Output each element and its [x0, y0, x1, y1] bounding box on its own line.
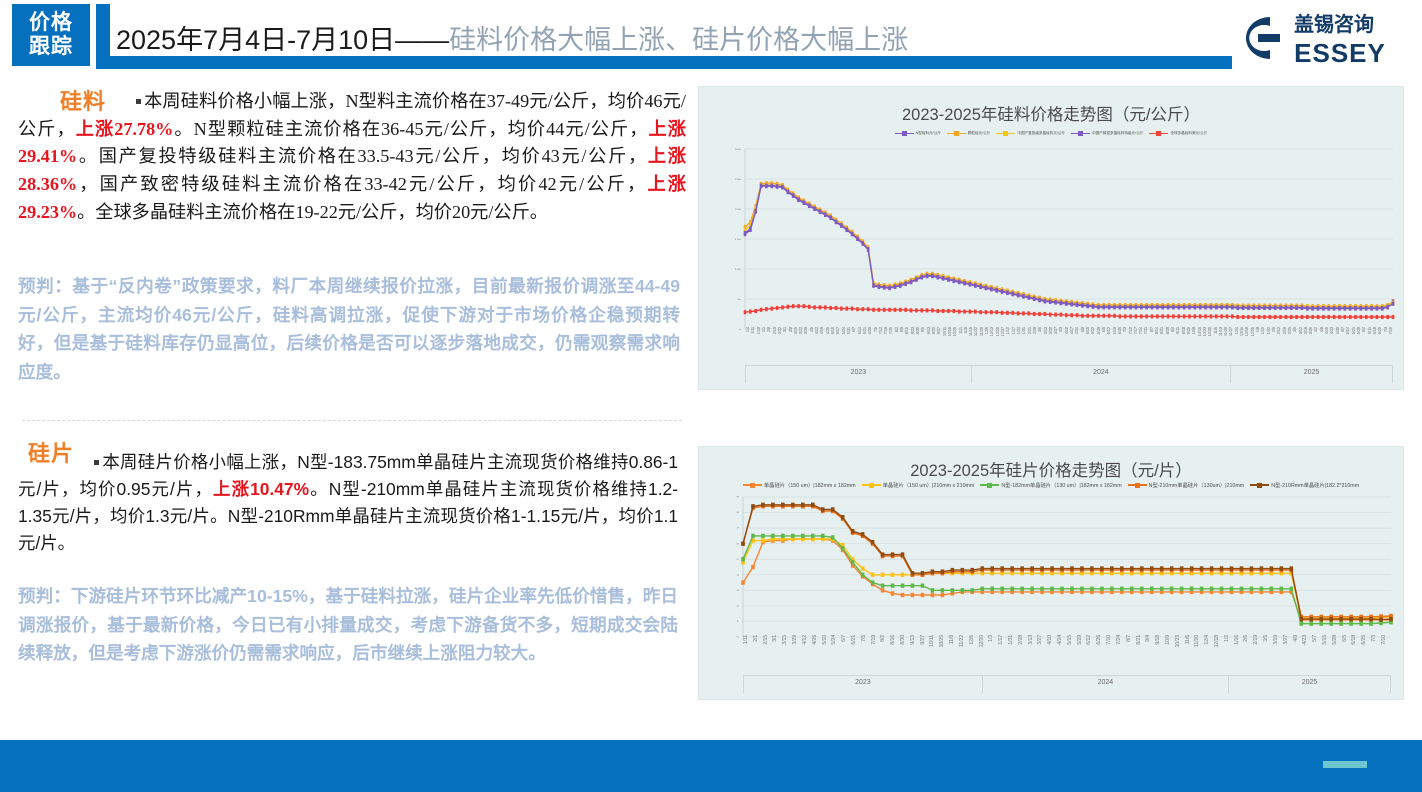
series-marker — [871, 540, 875, 544]
series-marker — [1065, 313, 1068, 317]
price-change-highlight: 上涨27.78% — [76, 119, 174, 139]
series-marker — [1381, 306, 1384, 310]
series-marker — [1172, 314, 1175, 318]
x-axis-tick-label: 2/6 — [1243, 635, 1253, 642]
chart2-year-row: 202320242025 — [743, 675, 1391, 693]
series-marker — [1180, 587, 1184, 591]
series-marker — [1130, 587, 1134, 591]
chart-svg: 0123456789 — [743, 497, 1391, 637]
series-marker — [1240, 587, 1244, 591]
series-marker — [1103, 305, 1106, 309]
x-axis-tick-label: 12/13 — [989, 327, 994, 336]
x-axis-tick-label: 4/24 — [1057, 635, 1067, 645]
legend-item: 单晶硅片（150 um）|182mm x 182mm — [743, 481, 856, 489]
series-marker — [990, 587, 994, 591]
series-marker — [1000, 587, 1004, 591]
x-axis-tick-label: 3/1 — [782, 327, 787, 332]
x-axis-tick-label: 6/28 — [867, 327, 872, 334]
x-axis-tick-label: 11/6 — [1185, 635, 1195, 644]
series-marker — [1236, 305, 1239, 309]
series-marker — [1274, 305, 1277, 309]
series-marker — [1250, 566, 1254, 570]
series-marker — [856, 236, 859, 240]
series-marker — [1161, 314, 1164, 318]
y-axis-tick-label: 0 — [739, 328, 742, 331]
series-marker — [1022, 311, 1025, 315]
series-marker — [1080, 587, 1084, 591]
series-marker — [862, 241, 865, 245]
series-marker — [1006, 290, 1009, 294]
x-axis-tick-label: 11/22 — [973, 327, 978, 336]
series-marker — [904, 308, 907, 312]
series-marker — [1322, 315, 1325, 319]
series-marker — [1240, 566, 1244, 570]
series-marker — [1180, 566, 1184, 570]
series-marker — [871, 573, 875, 577]
section-divider — [22, 420, 682, 421]
series-marker — [1145, 305, 1148, 309]
series-marker — [1200, 566, 1204, 570]
series-marker — [792, 304, 795, 308]
x-axis-tick-label: 10/9 — [1165, 635, 1175, 645]
series-marker — [776, 184, 779, 188]
series-marker — [1376, 306, 1379, 310]
x-axis-tick-label: 6/5 — [1342, 635, 1352, 642]
x-axis-tick-label: 12/6 — [969, 635, 979, 645]
series-marker — [819, 209, 822, 213]
x-axis-tick-label: 12/20 — [979, 635, 989, 648]
x-axis-tick-label: 6/25 — [1377, 327, 1382, 334]
series-marker — [1290, 305, 1293, 309]
series-marker — [1103, 314, 1106, 318]
series-marker — [1110, 566, 1114, 570]
x-axis-tick-label: 6/7 — [841, 635, 851, 642]
series-marker — [760, 184, 763, 188]
series-marker — [1065, 301, 1068, 305]
series-marker — [808, 203, 811, 207]
series-marker — [961, 588, 965, 592]
series-marker — [797, 197, 800, 201]
series-marker — [1311, 306, 1314, 310]
series-marker — [1301, 305, 1304, 309]
series-marker — [1092, 304, 1095, 308]
series-marker — [1183, 314, 1186, 318]
chart2-legend: 单晶硅片（150 um）|182mm x 182mm单晶硅片（150 um）|2… — [699, 481, 1403, 489]
chart1-plot-area: 050100150200250300 — [745, 149, 1393, 329]
series-marker — [1359, 617, 1363, 621]
series-marker — [1279, 305, 1282, 309]
legend-marker-icon — [996, 131, 1015, 136]
series-marker — [1076, 313, 1079, 317]
x-axis-tick-label: 9/11 — [1175, 327, 1180, 334]
series-marker — [1280, 566, 1284, 570]
legend-label: N型-210Rmm单晶硅片|182.2*210mm — [1271, 481, 1359, 489]
series-marker — [1150, 587, 1154, 591]
legend-item: 中国产致密多晶硅料特级元/公斤 — [1071, 131, 1143, 136]
year-group-label: 2025 — [1229, 675, 1391, 693]
series-marker — [1156, 305, 1159, 309]
series-marker — [971, 588, 975, 592]
legend-marker-icon — [1250, 483, 1269, 488]
chart2-title: 2023-2025年硅片价格走势图（元/片） — [699, 457, 1403, 481]
series-marker — [1140, 566, 1144, 570]
chart1-legend: N型硅料元/公斤颗粒硅元/公斤中国产复投级多晶硅料元/公斤中国产致密多晶硅料特级… — [699, 131, 1403, 136]
x-axis-tick-label: 3/27 — [1037, 635, 1047, 645]
series-marker — [1379, 617, 1383, 621]
series-marker — [941, 588, 945, 592]
x-axis-tick-label: 9/6 — [920, 327, 925, 332]
x-axis-tick-label: 5/15 — [1067, 635, 1077, 645]
series-marker — [741, 580, 745, 584]
series-marker — [744, 231, 747, 235]
series-marker — [1040, 587, 1044, 591]
x-axis-tick-label: 3/27 — [1283, 635, 1293, 645]
page-title-main: 2025年7月4日-7月10日—— — [116, 25, 449, 55]
series-marker — [771, 503, 775, 507]
series-marker — [749, 227, 752, 231]
series-marker — [1017, 293, 1020, 297]
series-marker — [1060, 301, 1063, 305]
series-marker — [1338, 315, 1341, 319]
series-marker — [1339, 617, 1343, 621]
x-axis-tick-label: 10/11 — [929, 635, 939, 647]
series-marker — [761, 538, 765, 542]
series-marker — [1070, 587, 1074, 591]
legend-label: 单晶硅片（150 um）|182mm x 182mm — [764, 481, 856, 489]
series-marker — [1230, 566, 1234, 570]
series-marker — [1204, 305, 1207, 309]
series-marker — [1204, 314, 1207, 318]
wafer-price-chart[interactable]: 2023-2025年硅片价格走势图（元/片） 单晶硅片（150 um）|182m… — [698, 446, 1404, 700]
series-marker — [941, 593, 945, 597]
series-marker — [787, 305, 790, 309]
x-axis-tick-label: 1/10 — [1005, 327, 1010, 334]
series-marker — [947, 309, 950, 313]
x-axis-tick-label: 9/18 — [1155, 635, 1165, 645]
series-marker — [765, 184, 768, 188]
series-marker — [1369, 617, 1373, 621]
series-marker — [1010, 587, 1014, 591]
left-content-column: 硅料 本周硅料价格小幅上涨，N型料主流价格在37-49元/公斤，均价46元/公斤… — [18, 84, 690, 704]
series-marker — [1317, 306, 1320, 310]
series-marker — [787, 190, 790, 194]
series-marker — [1333, 315, 1336, 319]
series-marker — [1183, 305, 1186, 309]
series-marker — [1269, 315, 1272, 319]
series-marker — [831, 535, 835, 539]
series-marker — [1215, 305, 1218, 309]
series-marker — [947, 277, 950, 281]
series-marker — [969, 310, 972, 314]
series-marker — [1250, 587, 1254, 591]
x-axis-tick-label: 4/23 — [1302, 635, 1312, 645]
x-axis-tick-label: 2/15 — [763, 635, 773, 645]
x-axis-tick-label: 1/15 — [1260, 327, 1265, 334]
legend-item: 单晶硅片（150 um）|210mm x 210mm — [862, 481, 975, 489]
x-axis-tick-label: 8/16 — [890, 635, 900, 645]
legend-item: 颗粒硅元/公斤 — [947, 131, 991, 136]
polysilicon-price-chart[interactable]: 2023-2025年硅料价格走势图（元/公斤） N型硅料元/公斤颗粒硅元/公斤中… — [698, 86, 1404, 390]
x-axis-tick-label: 8/21 — [1136, 635, 1146, 645]
series-marker — [915, 308, 918, 312]
series-marker — [1210, 305, 1213, 309]
series-marker — [1354, 315, 1357, 319]
legend-item: N型-210Rmm单晶硅片|182.2*210mm — [1250, 481, 1359, 489]
series-marker — [792, 193, 795, 197]
series-marker — [891, 552, 895, 556]
y-axis-tick-label: 8 — [736, 512, 739, 514]
body-text-run: 。全球多晶硅料主流价格在19-22元/公斤，均价20元/公斤。 — [77, 202, 548, 222]
series-marker — [1151, 305, 1154, 309]
x-axis-tick-label: 4/19 — [819, 327, 824, 334]
series-marker — [1194, 305, 1197, 309]
x-axis-tick-label: 4/3 — [1058, 327, 1063, 332]
series-marker — [1001, 289, 1004, 293]
series-marker — [781, 305, 784, 309]
legend-label: N型-182mm单晶硅片（130 um）|182mm x 182mm — [1001, 481, 1121, 489]
x-axis-tick-label: 5/28 — [1332, 635, 1342, 645]
series-marker — [1299, 617, 1303, 621]
series-marker — [920, 275, 923, 279]
legend-item: 中国产复投级多晶硅料元/公斤 — [996, 131, 1065, 136]
y-axis-tick-label: 300 — [735, 148, 742, 151]
series-marker — [878, 308, 881, 312]
series-marker — [931, 308, 934, 312]
series-marker — [1285, 315, 1288, 319]
series-marker — [744, 310, 747, 314]
x-axis-tick-label: 6/12 — [1086, 635, 1096, 645]
series-marker — [920, 308, 923, 312]
series-marker — [749, 310, 752, 314]
series-marker — [1242, 305, 1245, 309]
series-marker — [1129, 314, 1132, 318]
series-marker — [1050, 566, 1054, 570]
series-marker — [1210, 314, 1213, 318]
x-axis-tick-label: 12/4 — [1204, 635, 1214, 645]
series-marker — [1226, 305, 1229, 309]
series-marker — [1177, 314, 1180, 318]
legend-item: N型-210mm单晶硅片（130um）|210mm — [1128, 481, 1245, 489]
series-marker — [1100, 566, 1104, 570]
y-axis-tick-label: 7 — [736, 527, 739, 529]
series-marker — [1108, 314, 1111, 318]
y-axis-tick-label: 4 — [736, 574, 739, 576]
series-marker — [1150, 566, 1154, 570]
series-marker — [931, 274, 934, 278]
series-marker — [1317, 315, 1320, 319]
series-marker — [926, 274, 929, 278]
series-marker — [840, 223, 843, 227]
series-marker — [1252, 305, 1255, 309]
series-marker — [851, 560, 855, 564]
x-axis-tick-label: 1/31 — [1021, 327, 1026, 334]
wafer-body-text: 本周硅片价格小幅上涨，N型-183.75mm单晶硅片主流现货价格维持0.86-1… — [18, 449, 678, 558]
x-axis-tick-label: 6/18 — [1351, 635, 1361, 645]
series-marker — [1190, 566, 1194, 570]
bullet-icon — [94, 460, 99, 465]
series-marker — [1333, 306, 1336, 310]
series-marker — [936, 309, 939, 313]
series-marker — [1247, 305, 1250, 309]
series-marker — [765, 307, 768, 311]
series-marker — [1033, 312, 1036, 316]
series-marker — [829, 306, 832, 310]
series-marker — [770, 307, 773, 311]
x-axis-tick-label: 12/18 — [1244, 327, 1249, 336]
series-marker — [1090, 566, 1094, 570]
series-marker — [770, 184, 773, 188]
series-marker — [1113, 305, 1116, 309]
series-marker — [1301, 315, 1304, 319]
x-axis-tick-label: 7/5 — [861, 635, 871, 642]
header-underline-bar — [96, 56, 1232, 69]
series-marker — [979, 310, 982, 314]
series-marker — [1359, 621, 1363, 625]
x-axis-tick-label: 4/9 — [1293, 635, 1303, 642]
x-axis-tick-label: 5/29 — [1077, 635, 1087, 645]
series-marker — [1295, 305, 1298, 309]
series-marker — [1263, 305, 1266, 309]
series-marker — [1290, 315, 1293, 319]
series-marker — [1038, 298, 1041, 302]
series-marker — [1167, 305, 1170, 309]
series-marker — [821, 507, 825, 511]
series-marker — [921, 593, 925, 597]
x-axis-tick-label: 6/25 — [1361, 635, 1371, 645]
y-axis-tick-label: 2 — [736, 605, 739, 607]
series-marker — [961, 568, 965, 572]
series-marker — [1108, 305, 1111, 309]
series-marker — [942, 276, 945, 280]
legend-label: N型硅料元/公斤 — [916, 131, 941, 136]
header-tag-badge: 价格 跟踪 — [12, 4, 90, 66]
series-marker — [861, 532, 865, 536]
series-marker — [1199, 305, 1202, 309]
series-marker — [851, 232, 854, 236]
series-marker — [1001, 311, 1004, 315]
series-marker — [951, 588, 955, 592]
series-marker — [881, 588, 885, 592]
x-axis-tick-label: 2/12 — [1276, 327, 1281, 334]
x-axis-tick-label: 1/17 — [998, 635, 1008, 645]
series-marker — [1119, 305, 1122, 309]
series-marker — [1220, 314, 1223, 318]
series-marker — [1022, 294, 1025, 298]
series-marker — [1040, 566, 1044, 570]
x-axis-tick-label: 8/21 — [1159, 327, 1164, 334]
x-axis-tick-label: 1/11 — [750, 327, 755, 334]
series-marker — [1290, 587, 1294, 591]
series-marker — [1376, 315, 1379, 319]
series-marker — [1339, 621, 1343, 625]
series-marker — [1145, 314, 1148, 318]
series-marker — [797, 304, 800, 308]
series-marker — [1177, 305, 1180, 309]
series-marker — [1081, 303, 1084, 307]
series-marker — [1263, 315, 1266, 319]
series-marker — [1070, 313, 1073, 317]
series-marker — [824, 212, 827, 216]
x-axis-tick-label: 3/13 — [1028, 635, 1038, 645]
series-marker — [1306, 306, 1309, 310]
series-marker — [953, 309, 956, 313]
series-line — [743, 505, 1391, 620]
series-marker — [1167, 314, 1170, 318]
series-marker — [891, 573, 895, 577]
series-marker — [963, 310, 966, 314]
series-marker — [1338, 306, 1341, 310]
series-marker — [1070, 566, 1074, 570]
x-axis-tick-label: 2/19 — [1253, 635, 1263, 645]
series-marker — [1160, 566, 1164, 570]
series-marker — [824, 305, 827, 309]
legend-marker-icon — [1149, 131, 1168, 136]
series-marker — [910, 308, 913, 312]
series-marker — [1120, 587, 1124, 591]
series-marker — [856, 307, 859, 311]
series-marker — [1054, 300, 1057, 304]
series-marker — [1030, 566, 1034, 570]
x-axis-tick-label: 1/31 — [1008, 635, 1018, 645]
series-marker — [1028, 295, 1031, 299]
series-marker — [1365, 306, 1368, 310]
series-marker — [1360, 315, 1363, 319]
series-marker — [901, 552, 905, 556]
series-marker — [1124, 305, 1127, 309]
series-marker — [1299, 621, 1303, 625]
legend-label: 全球多晶硅料美元/公斤 — [1170, 131, 1207, 136]
x-axis-tick-label: 5/15 — [1322, 635, 1332, 645]
series-marker — [1010, 566, 1014, 570]
series-marker — [1344, 315, 1347, 319]
logo-en-text: ESSEY — [1294, 38, 1386, 68]
x-axis-tick-label: 10/30 — [1207, 327, 1212, 336]
series-marker — [1258, 315, 1261, 319]
series-marker — [1370, 306, 1373, 310]
year-group-label: 2024 — [972, 365, 1231, 383]
series-marker — [1269, 305, 1272, 309]
series-marker — [881, 552, 885, 556]
chart2-plot-area: 0123456789 — [743, 497, 1391, 637]
legend-marker-icon — [980, 483, 999, 488]
series-marker — [1386, 305, 1389, 309]
series-marker — [1230, 587, 1234, 591]
x-axis-tick-label: 10/23 — [1175, 635, 1185, 648]
series-marker — [801, 503, 805, 507]
series-marker — [1080, 566, 1084, 570]
series-marker — [888, 286, 891, 290]
x-axis-tick-label: 7/3 — [1122, 327, 1127, 332]
series-marker — [801, 534, 805, 538]
series-marker — [1354, 306, 1357, 310]
series-marker — [1199, 314, 1202, 318]
series-marker — [1270, 566, 1274, 570]
legend-marker-icon — [895, 131, 914, 136]
series-marker — [1329, 617, 1333, 621]
x-axis-tick-label: 4/23 — [1329, 327, 1334, 334]
x-axis-tick-label: 5/7 — [1312, 635, 1322, 642]
series-marker — [915, 277, 918, 281]
series-marker — [910, 280, 913, 284]
series-marker — [942, 309, 945, 313]
series-marker — [980, 566, 984, 570]
x-axis-tick-label: 4/26 — [812, 635, 822, 645]
series-marker — [1188, 305, 1191, 309]
series-marker — [1270, 587, 1274, 591]
series-marker — [811, 503, 815, 507]
legend-item: N型-182mm单晶硅片（130 um）|182mm x 182mm — [980, 481, 1121, 489]
series-line — [745, 183, 1393, 306]
